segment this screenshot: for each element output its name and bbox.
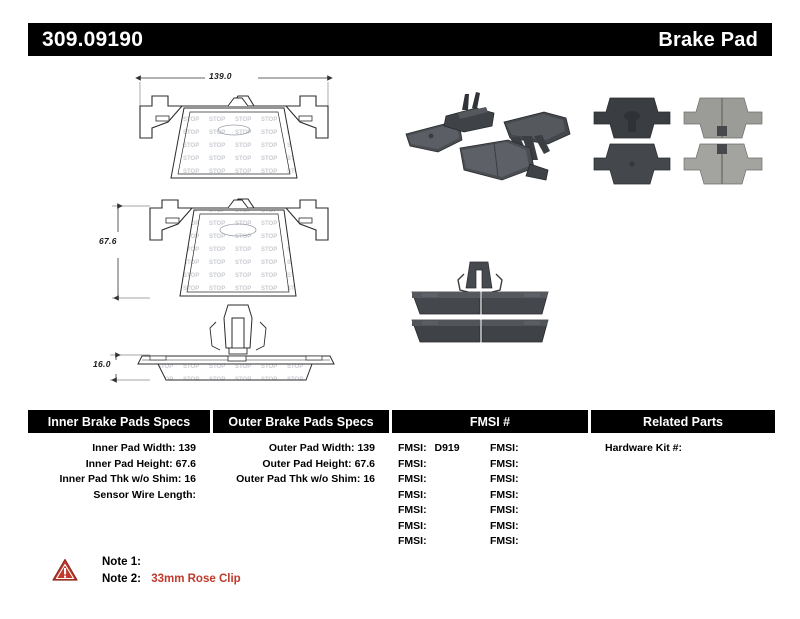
- fmsi-value: [427, 473, 432, 485]
- related-part-label: Hardware Kit #:: [605, 442, 682, 454]
- fmsi-row: FMSI:: [398, 534, 490, 550]
- fmsi-row: FMSI:: [490, 457, 582, 473]
- brake-pad-set-four-up-photo: [590, 82, 772, 200]
- note-row-1: Note 1:: [102, 554, 241, 571]
- spec-row: Inner Pad Width: 139: [28, 441, 210, 457]
- fmsi-label: FMSI:: [490, 473, 519, 485]
- outer-specs-column: Outer Pad Width: 139 Outer Pad Height: 6…: [213, 441, 389, 550]
- spec-value: 67.6: [355, 458, 375, 470]
- spec-row: Sensor Wire Length:: [28, 488, 210, 504]
- spec-row: Inner Pad Thk w/o Shim: 16: [28, 472, 210, 488]
- spec-label: Inner Pad Thk w/o Shim:: [59, 473, 181, 485]
- wear-sensor-clip-geometry: [210, 305, 266, 354]
- spec-value: 16: [363, 473, 375, 485]
- fmsi-label: FMSI:: [490, 458, 519, 470]
- fmsi-label: FMSI:: [398, 458, 427, 470]
- fmsi-row: FMSI:: [398, 503, 490, 519]
- header-bar: 309.09190 Brake Pad: [28, 23, 772, 56]
- fmsi-subcolumn-right: FMSI: FMSI: FMSI: FMSI:: [490, 441, 582, 550]
- fmsi-value: [427, 489, 432, 501]
- brake-pad-pair-edge-photo: [396, 258, 576, 350]
- fmsi-row: FMSI:: [398, 457, 490, 473]
- spec-value: 16: [184, 473, 196, 485]
- fmsi-value: [519, 535, 524, 547]
- spec-label: Inner Pad Width:: [92, 442, 175, 454]
- spec-value: 67.6: [176, 458, 196, 470]
- spec-header-fmsi: FMSI #: [392, 410, 588, 433]
- fmsi-value: [519, 458, 524, 470]
- fmsi-row: FMSI:: [398, 472, 490, 488]
- fmsi-label: FMSI:: [398, 504, 427, 516]
- spec-value: 139: [357, 442, 375, 454]
- warning-triangle-icon: [52, 558, 78, 582]
- fmsi-value: [427, 458, 432, 470]
- inner-specs-column: Inner Pad Width: 139 Inner Pad Height: 6…: [28, 441, 210, 550]
- fmsi-row: FMSI:: [490, 488, 582, 504]
- spec-header-outer: Outer Brake Pads Specs: [213, 410, 389, 433]
- spec-header-related-parts: Related Parts: [591, 410, 775, 433]
- fmsi-label: FMSI:: [490, 535, 519, 547]
- spec-value: 139: [178, 442, 196, 454]
- page-title: Brake Pad: [658, 30, 758, 50]
- spec-header-inner: Inner Brake Pads Specs: [28, 410, 210, 433]
- fmsi-column: FMSI: D919 FMSI: FMSI: FMSI:: [392, 441, 588, 550]
- fmsi-value: [427, 520, 432, 532]
- pad-side-view-geometry: [110, 355, 334, 380]
- spec-row: Outer Pad Width: 139: [213, 441, 389, 457]
- fmsi-label: FMSI:: [490, 442, 519, 454]
- fmsi-label: FMSI:: [490, 520, 519, 532]
- fmsi-label: FMSI:: [398, 520, 427, 532]
- spec-table-header-row: Inner Brake Pads Specs Outer Brake Pads …: [28, 410, 772, 433]
- fmsi-row: FMSI:: [490, 472, 582, 488]
- pad-front-view-geometry: [112, 199, 328, 298]
- spec-label: Outer Pad Height:: [262, 458, 351, 470]
- fmsi-label: FMSI:: [398, 442, 427, 454]
- fmsi-row: FMSI:: [490, 441, 582, 457]
- fmsi-label: FMSI:: [398, 535, 427, 547]
- spec-row: Outer Pad Thk w/o Shim: 16: [213, 472, 389, 488]
- specifications-table: Inner Brake Pads Specs Outer Brake Pads …: [28, 410, 772, 550]
- note-2-label: Note 2:: [102, 571, 141, 588]
- fmsi-value: [519, 504, 524, 516]
- fmsi-value: [519, 442, 524, 454]
- fmsi-value: [427, 504, 432, 516]
- fmsi-row: FMSI:: [490, 503, 582, 519]
- fmsi-row: FMSI:: [490, 519, 582, 535]
- spec-row: Inner Pad Height: 67.6: [28, 457, 210, 473]
- fmsi-subcolumn-left: FMSI: D919 FMSI: FMSI: FMSI:: [398, 441, 490, 550]
- fmsi-row: FMSI:: [398, 519, 490, 535]
- note-2-value: 33mm Rose Clip: [144, 573, 240, 585]
- fmsi-label: FMSI:: [490, 504, 519, 516]
- notes-section: Note 1: Note 2: 33mm Rose Clip: [52, 554, 241, 588]
- spec-row: Outer Pad Height: 67.6: [213, 457, 389, 473]
- fmsi-value: D919: [430, 442, 460, 454]
- note-row-2: Note 2: 33mm Rose Clip: [102, 571, 241, 588]
- note-1-label: Note 1:: [102, 554, 141, 571]
- technical-drawings-area: STOP: [0, 60, 800, 395]
- fmsi-label: FMSI:: [398, 473, 427, 485]
- pad-top-view-geometry: [140, 78, 328, 178]
- fmsi-row: FMSI:: [398, 488, 490, 504]
- dimension-label-width: 139.0: [209, 71, 232, 81]
- spec-label: Inner Pad Height:: [86, 458, 173, 470]
- fmsi-label: FMSI:: [490, 489, 519, 501]
- related-part-row: Hardware Kit #:: [591, 441, 775, 457]
- spec-table-body-row: Inner Pad Width: 139 Inner Pad Height: 6…: [28, 433, 772, 550]
- fmsi-label: FMSI:: [398, 489, 427, 501]
- spec-label: Sensor Wire Length:: [93, 489, 196, 501]
- part-number: 309.09190: [42, 29, 143, 50]
- fmsi-value: [519, 489, 524, 501]
- note-1-value: [141, 556, 148, 568]
- fmsi-value: [427, 535, 432, 547]
- fmsi-value: [519, 520, 524, 532]
- dimension-label-height: 67.6: [99, 236, 117, 246]
- spec-label: Outer Pad Width:: [269, 442, 355, 454]
- fmsi-row: FMSI: D919: [398, 441, 490, 457]
- fmsi-value: [519, 473, 524, 485]
- brake-pad-set-angled-photo: [398, 82, 588, 200]
- spec-label: Outer Pad Thk w/o Shim:: [236, 473, 360, 485]
- related-parts-column: Hardware Kit #:: [591, 441, 775, 550]
- fmsi-row: FMSI:: [490, 534, 582, 550]
- dimension-label-thickness: 16.0: [93, 359, 111, 369]
